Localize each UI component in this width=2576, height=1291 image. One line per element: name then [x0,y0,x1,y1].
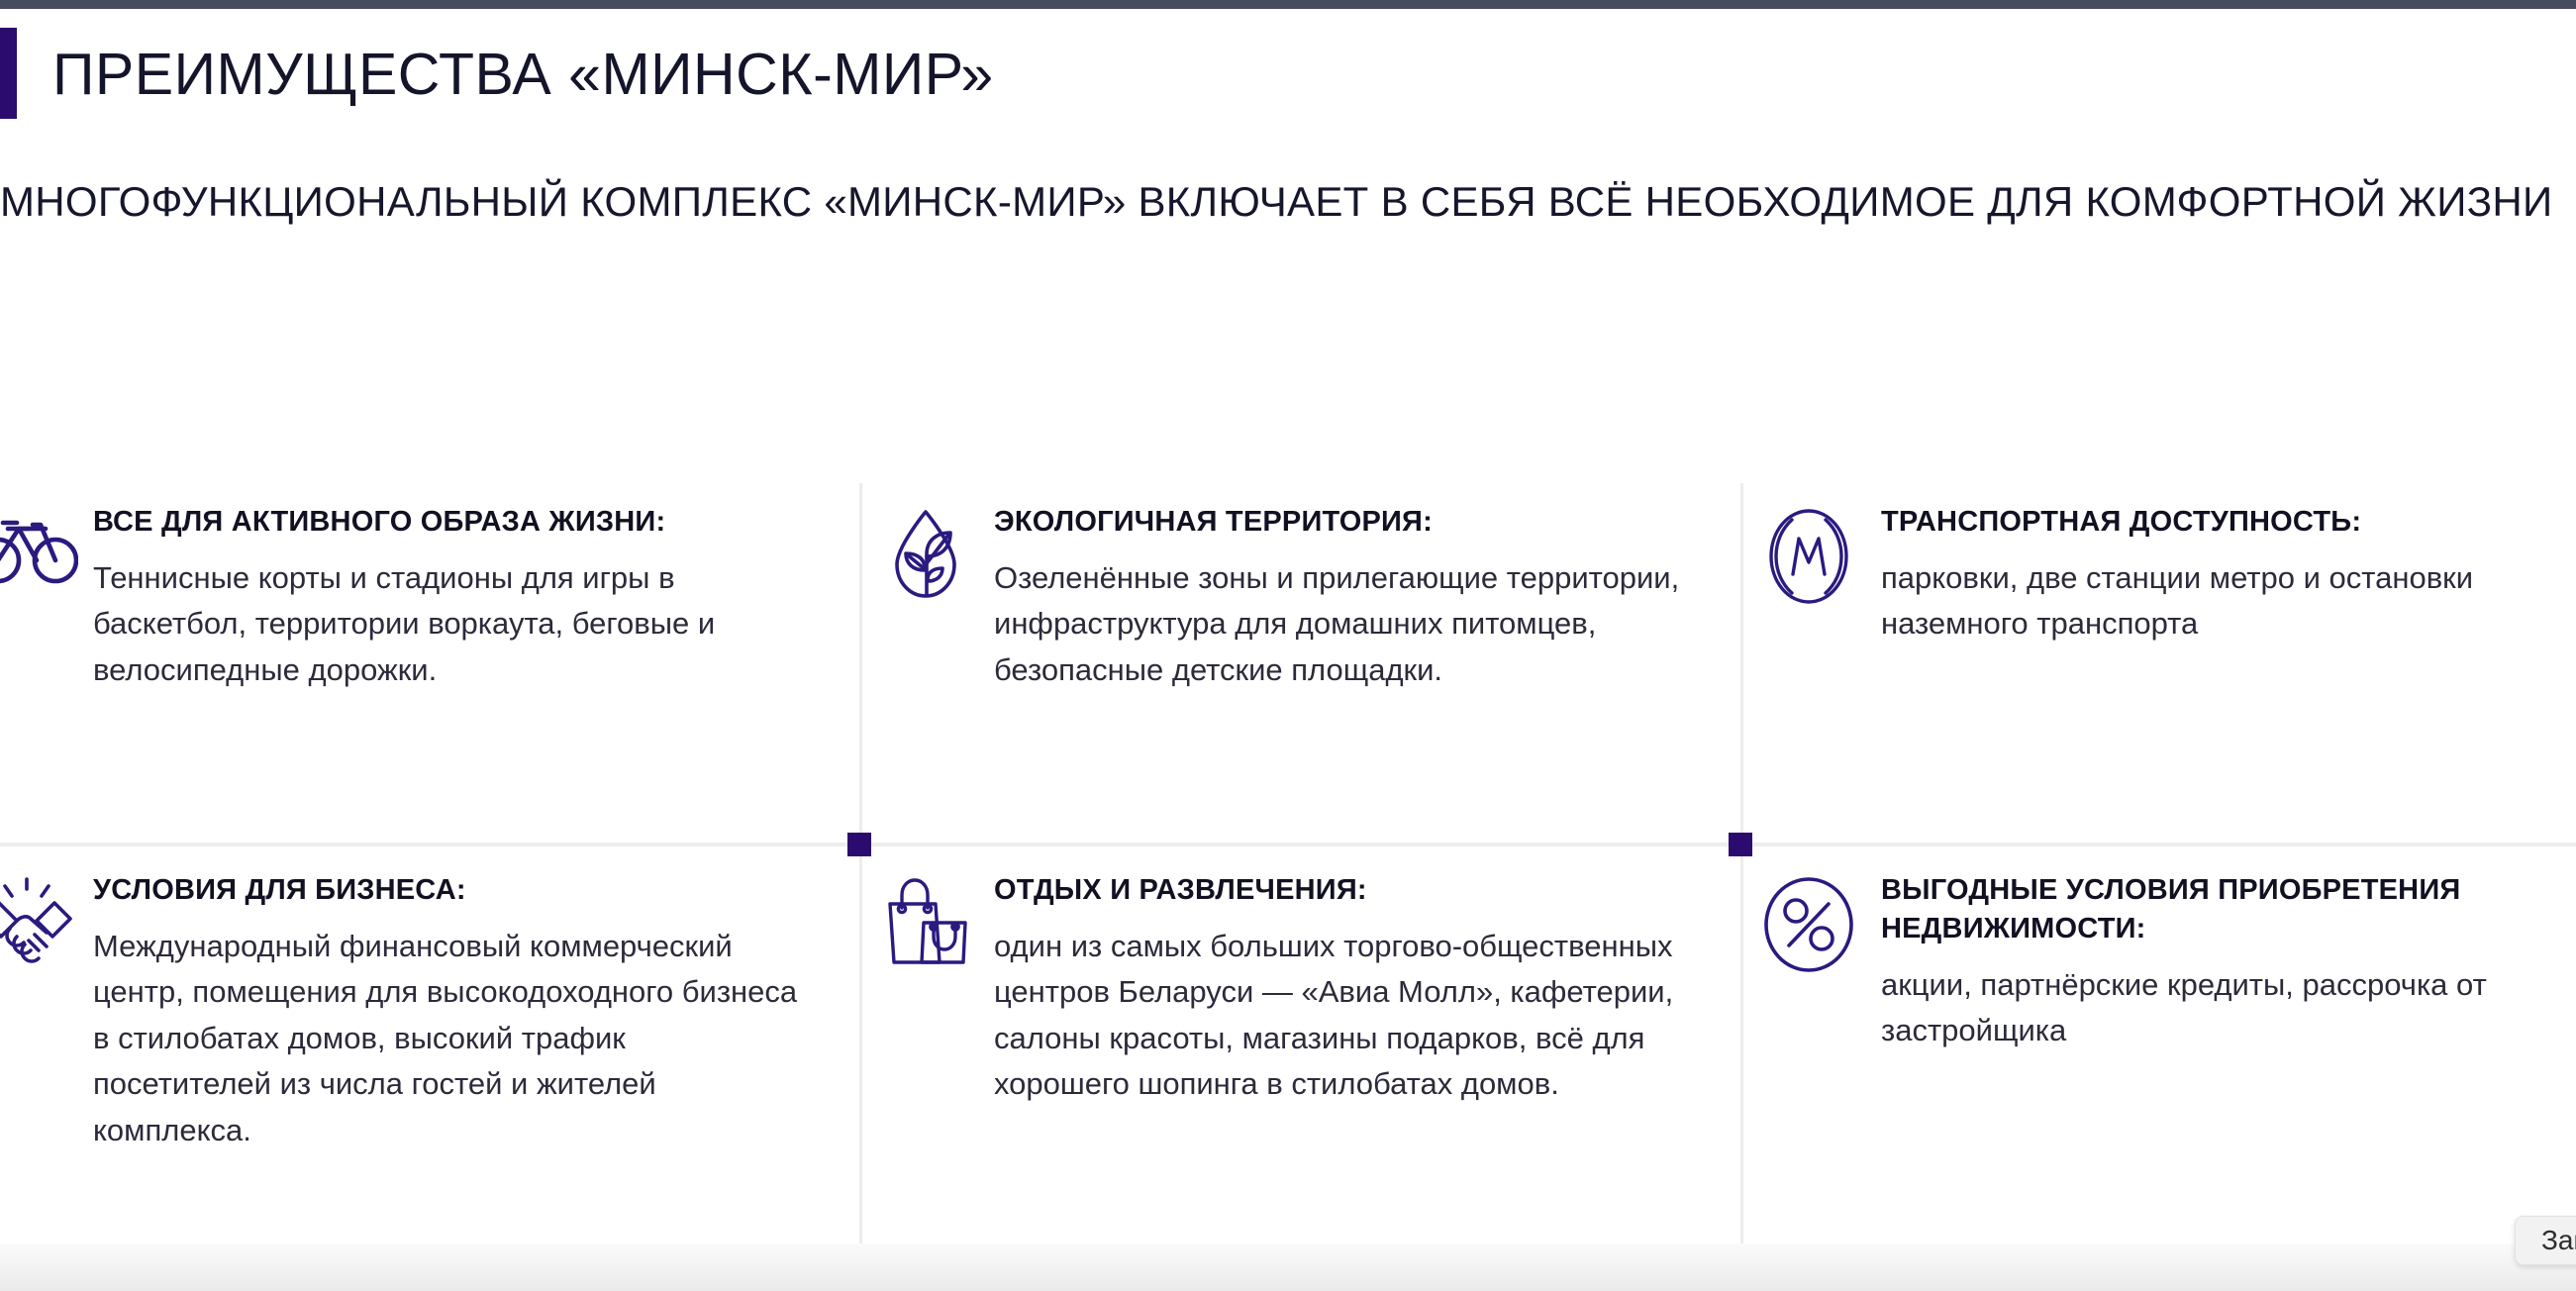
grid-marker-square-1 [847,833,871,856]
advantage-text: ЭКОЛОГИЧНАЯ ТЕРРИТОРИЯ: Озеленённые зоны… [980,503,1703,693]
floating-signup-label: Зап [2541,1225,2576,1256]
advantage-card-purchase-terms: ВЫГОДНЫЕ УСЛОВИЯ ПРИОБРЕТЕНИЯ НЕДВИЖИМОС… [1754,871,2561,1054]
advantage-text: ОТДЫХ И РАЗВЛЕЧЕНИЯ: один из самых больш… [980,871,1703,1108]
advantage-title: УСЛОВИЯ ДЛЯ БИЗНЕСА: [93,871,804,910]
bicycle-icon [0,503,81,612]
browser-top-strip [0,0,2576,9]
advantages-page: ПРЕИМУЩЕСТВА «МИНСК-МИР» МНОГОФУНКЦИОНАЛ… [0,0,2576,1291]
advantage-text: УСЛОВИЯ ДЛЯ БИЗНЕСА: Международный финан… [81,871,804,1153]
floating-signup-button[interactable]: Зап [2515,1216,2576,1265]
advantage-title: ТРАНСПОРТНАЯ ДОСТУПНОСТЬ: [1881,503,2561,542]
advantage-title: ВЫГОДНЫЕ УСЛОВИЯ ПРИОБРЕТЕНИЯ НЕДВИЖИМОС… [1881,871,2561,948]
advantages-grid: ВСЕ ДЛЯ АКТИВНОГО ОБРАЗА ЖИЗНИ: Теннисны… [0,483,2576,1245]
shopping-bags-icon [871,871,980,980]
horizontal-divider [0,843,2576,846]
title-accent-bar [0,28,17,119]
advantage-text: ВЫГОДНЫЕ УСЛОВИЯ ПРИОБРЕТЕНИЯ НЕДВИЖИМОС… [1863,871,2561,1054]
advantage-body: акции, партнёрские кредиты, рассрочка от… [1881,962,2561,1054]
handshake-icon [0,871,81,980]
advantage-title: ВСЕ ДЛЯ АКТИВНОГО ОБРАЗА ЖИЗНИ: [93,503,804,542]
vertical-divider-1 [859,483,862,1245]
advantage-title: ОТДЫХ И РАЗВЛЕЧЕНИЯ: [994,871,1703,910]
advantage-card-eco-territory: ЭКОЛОГИЧНАЯ ТЕРРИТОРИЯ: Озеленённые зоны… [871,503,1703,693]
advantage-body: парковки, две станции метро и остановки … [1881,555,2561,647]
advantage-card-active-lifestyle: ВСЕ ДЛЯ АКТИВНОГО ОБРАЗА ЖИЗНИ: Теннисны… [0,503,804,693]
vertical-divider-2 [1740,483,1743,1245]
page-title: ПРЕИМУЩЕСТВА «МИНСК-МИР» [52,45,994,106]
advantage-text: ВСЕ ДЛЯ АКТИВНОГО ОБРАЗА ЖИЗНИ: Теннисны… [81,503,804,693]
metro-icon [1754,503,1863,612]
advantage-card-business: УСЛОВИЯ ДЛЯ БИЗНЕСА: Международный финан… [0,871,804,1153]
advantage-text: ТРАНСПОРТНАЯ ДОСТУПНОСТЬ: парковки, две … [1863,503,2561,647]
advantage-card-leisure: ОТДЫХ И РАЗВЛЕЧЕНИЯ: один из самых больш… [871,871,1703,1108]
grid-marker-square-2 [1729,833,1752,856]
eco-droplet-leaf-icon [871,503,980,612]
advantage-title: ЭКОЛОГИЧНАЯ ТЕРРИТОРИЯ: [994,503,1703,542]
percent-circle-icon [1754,871,1863,980]
advantage-body: Теннисные корты и стадионы для игры в ба… [93,555,804,694]
advantage-body: один из самых больших торгово-общественн… [994,924,1703,1108]
advantage-body: Озеленённые зоны и прилегающие территори… [994,555,1703,694]
advantage-body: Международный финансовый коммерческий це… [93,924,804,1154]
page-heading: ПРЕИМУЩЕСТВА «МИНСК-МИР» [0,28,2576,123]
advantage-card-transport: ТРАНСПОРТНАЯ ДОСТУПНОСТЬ: парковки, две … [1754,503,2561,647]
page-subtitle: МНОГОФУНКЦИОНАЛЬНЫЙ КОМПЛЕКС «МИНСК-МИР»… [0,172,2554,233]
footer-fade [0,1243,2576,1291]
